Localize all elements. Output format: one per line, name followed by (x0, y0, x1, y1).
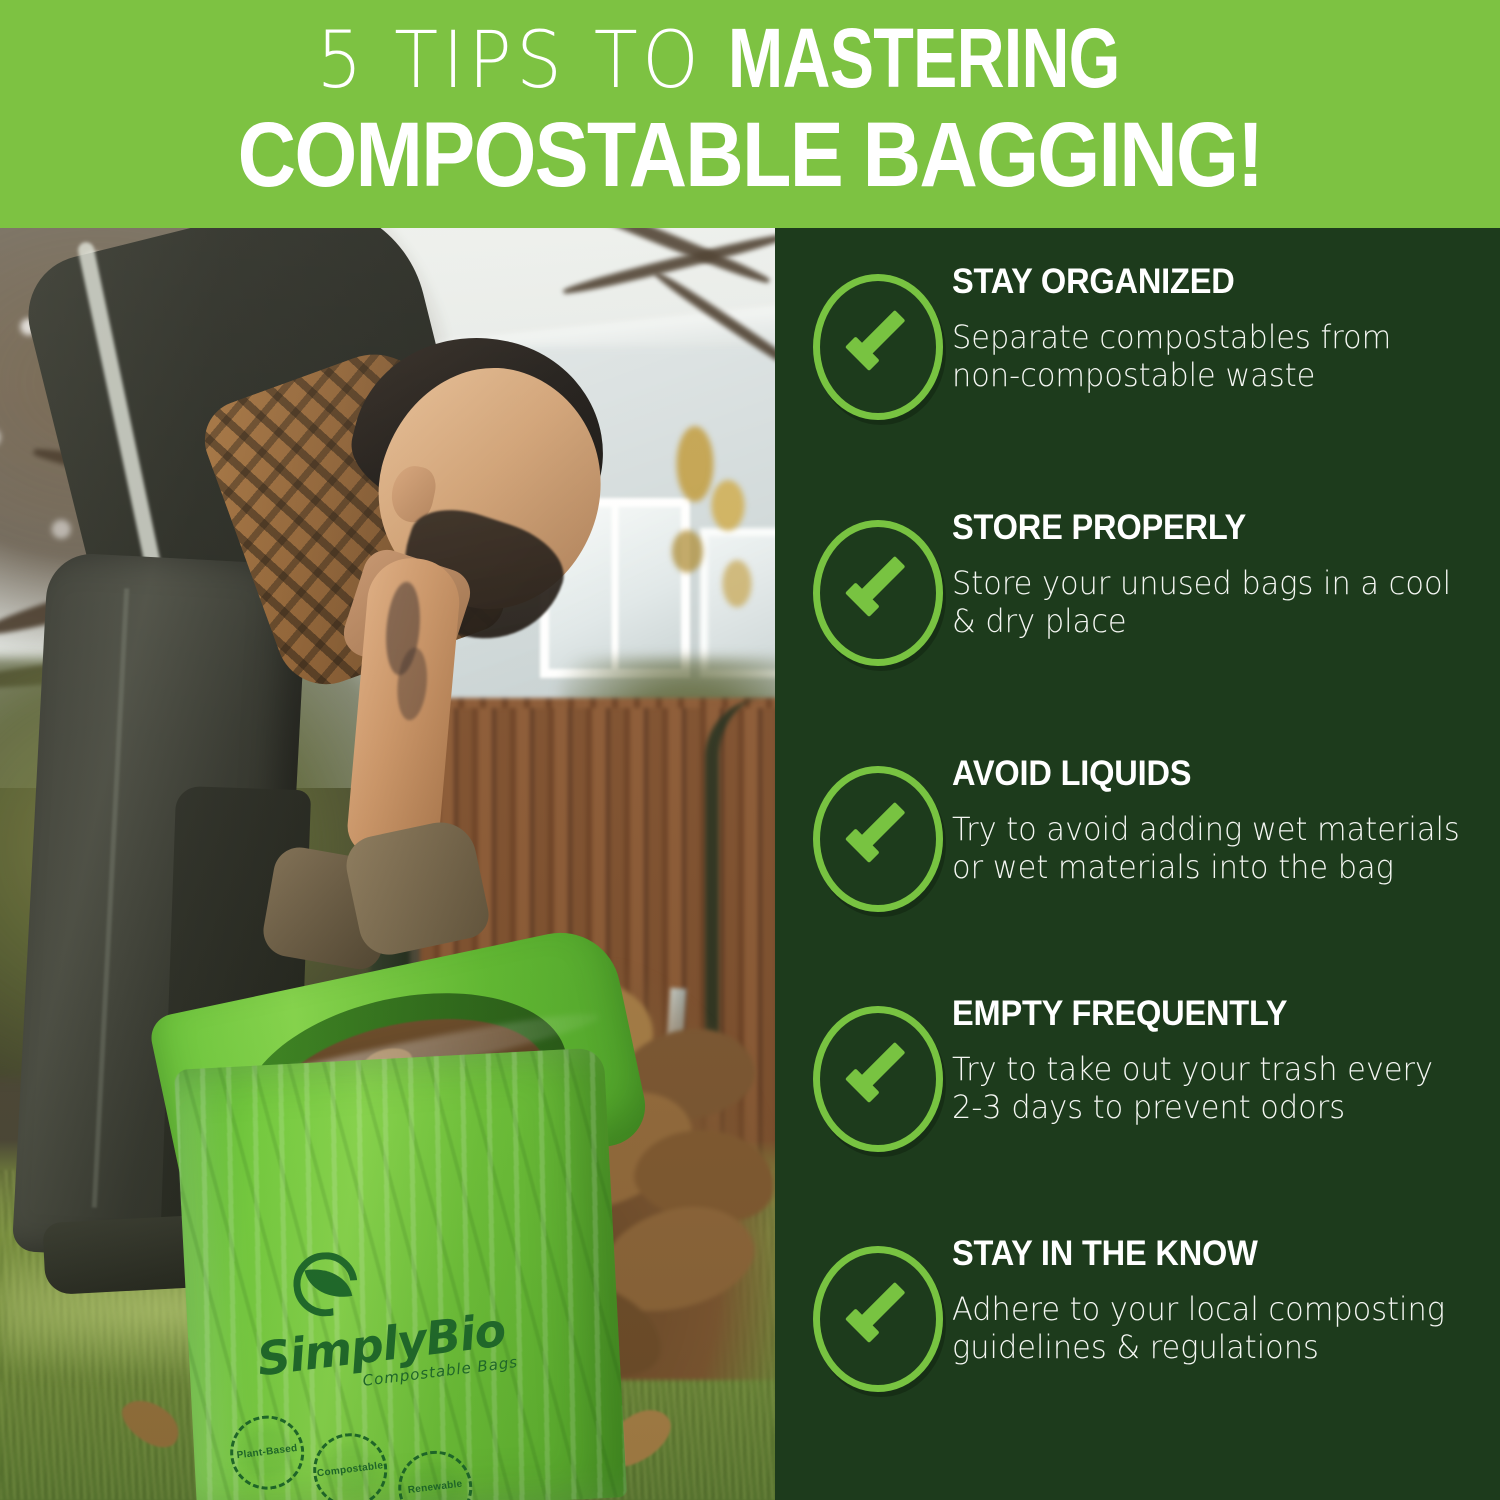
tip-text-block: STAY ORGANIZED Separate compostables fro… (952, 262, 1492, 394)
header-text-block: 5 TIPS TO MASTERING COMPOSTABLE BAGGING! (0, 14, 1500, 207)
tip-title: STORE PROPERLY (952, 508, 1454, 548)
tip-description: Try to take out your trash every 2-3 day… (952, 1050, 1465, 1126)
tip-item: STAY ORGANIZED Separate compostables fro… (775, 252, 1500, 482)
tip-description: Adhere to your local composting guidelin… (952, 1290, 1465, 1366)
tip-description: Store your unused bags in a cool & dry p… (952, 564, 1465, 640)
tip-title: EMPTY FREQUENTLY (952, 994, 1454, 1034)
tip-item: EMPTY FREQUENTLY Try to take out your tr… (775, 984, 1500, 1214)
tip-item: AVOID LIQUIDS Try to avoid adding wet ma… (775, 744, 1500, 974)
tip-title: STAY ORGANIZED (952, 262, 1454, 302)
tip-item: STAY IN THE KNOW Adhere to your local co… (775, 1224, 1500, 1454)
tip-item: STORE PROPERLY Store your unused bags in… (775, 498, 1500, 728)
check-circle-icon (813, 1006, 943, 1152)
hero-photo: SimplyBio Compostable Bags Plant-Based C… (0, 228, 775, 1500)
tip-title: AVOID LIQUIDS (952, 754, 1454, 794)
checkmark-icon (843, 810, 911, 844)
tips-panel: STAY ORGANIZED Separate compostables fro… (775, 228, 1500, 1500)
header-line-1: 5 TIPS TO MASTERING (60, 14, 1440, 105)
header-line-1-bold: MASTERING (728, 14, 1120, 102)
tip-text-block: AVOID LIQUIDS Try to avoid adding wet ma… (952, 754, 1492, 886)
check-circle-icon (813, 766, 943, 912)
check-circle-icon (813, 520, 943, 666)
checkmark-icon (843, 318, 911, 352)
checkmark-icon (843, 1290, 911, 1324)
tip-description: Try to avoid adding wet materials or wet… (952, 810, 1465, 886)
header-banner: 5 TIPS TO MASTERING COMPOSTABLE BAGGING! (0, 0, 1500, 228)
tip-text-block: EMPTY FREQUENTLY Try to take out your tr… (952, 994, 1492, 1126)
checkmark-icon (843, 1050, 911, 1084)
infographic-poster: 5 TIPS TO MASTERING COMPOSTABLE BAGGING! (0, 0, 1500, 1500)
tip-text-block: STAY IN THE KNOW Adhere to your local co… (952, 1234, 1492, 1366)
check-circle-icon (813, 274, 943, 420)
tip-description: Separate compostables from non-compostab… (952, 318, 1465, 394)
tip-text-block: STORE PROPERLY Store your unused bags in… (952, 508, 1492, 640)
autumn-leaf-sprig (635, 418, 775, 648)
tip-title: STAY IN THE KNOW (952, 1234, 1454, 1274)
checkmark-icon (843, 564, 911, 598)
check-circle-icon (813, 1246, 943, 1392)
header-line-1-light: 5 TIPS TO (317, 16, 704, 106)
header-line-2: COMPOSTABLE BAGGING! (90, 103, 1410, 207)
